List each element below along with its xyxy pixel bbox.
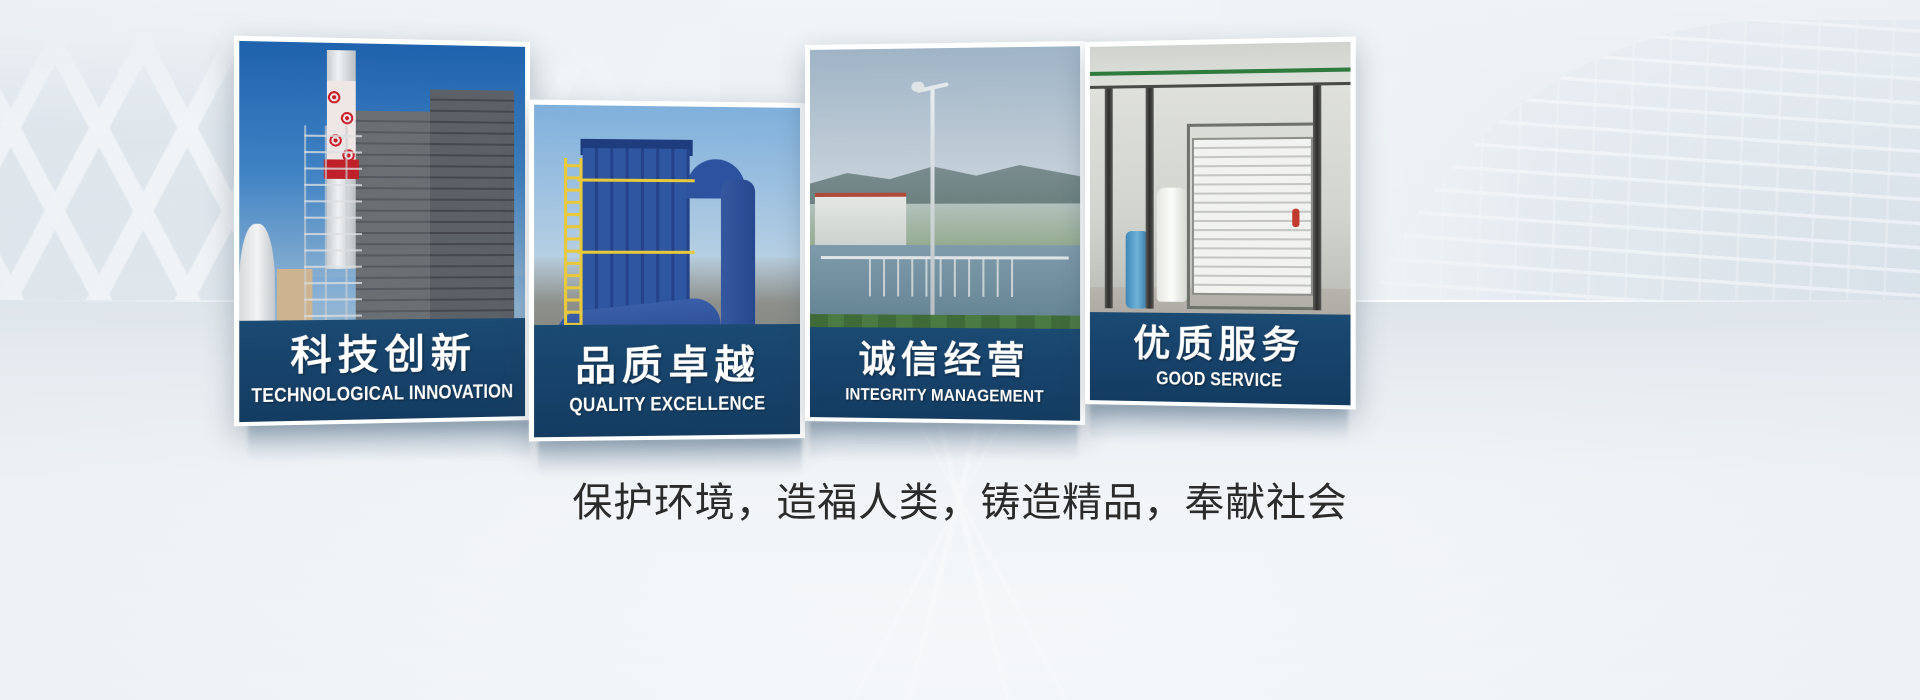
- promo-banner: 科技创新 TECHNOLOGICAL INNOVATION: [0, 0, 1920, 700]
- value-card-integrity-management[interactable]: 诚信经营 INTEGRITY MANAGEMENT: [805, 41, 1085, 425]
- card-title-en: QUALITY EXCELLENCE: [570, 393, 766, 417]
- value-card-quality-excellence[interactable]: 品质卓越 QUALITY EXCELLENCE: [529, 100, 805, 442]
- card-reflection: [810, 421, 1078, 467]
- card-title-en: TECHNOLOGICAL INNOVATION: [252, 381, 514, 408]
- value-card-technological-innovation[interactable]: 科技创新 TECHNOLOGICAL INNOVATION: [234, 36, 530, 427]
- card-title-cn: 品质卓越: [575, 344, 760, 388]
- card-caption-band: 诚信经营 INTEGRITY MANAGEMENT: [810, 327, 1080, 421]
- card-title-cn: 诚信经营: [859, 340, 1030, 381]
- banner-tagline: 保护环境，造福人类，铸造精品，奉献社会: [0, 470, 1920, 528]
- card-caption-band: 优质服务 GOOD SERVICE: [1090, 312, 1351, 405]
- value-card-good-service[interactable]: 优质服务 GOOD SERVICE: [1085, 36, 1356, 409]
- value-cards-group: 科技创新 TECHNOLOGICAL INNOVATION: [0, 0, 1920, 700]
- card-caption-band: 品质卓越 QUALITY EXCELLENCE: [534, 324, 800, 437]
- card-caption-band: 科技创新 TECHNOLOGICAL INNOVATION: [239, 318, 525, 422]
- card-inner: 优质服务 GOOD SERVICE: [1090, 42, 1351, 406]
- card-inner: 科技创新 TECHNOLOGICAL INNOVATION: [239, 41, 525, 422]
- card-title-cn: 优质服务: [1133, 324, 1305, 366]
- card-title-en: GOOD SERVICE: [1156, 369, 1282, 393]
- card-reflection: [248, 420, 530, 468]
- card-inner: 品质卓越 QUALITY EXCELLENCE: [534, 105, 800, 438]
- card-title-en: INTEGRITY MANAGEMENT: [845, 385, 1044, 408]
- card-reflection: [1090, 404, 1348, 448]
- card-title-cn: 科技创新: [290, 332, 476, 377]
- card-inner: 诚信经营 INTEGRITY MANAGEMENT: [810, 46, 1080, 421]
